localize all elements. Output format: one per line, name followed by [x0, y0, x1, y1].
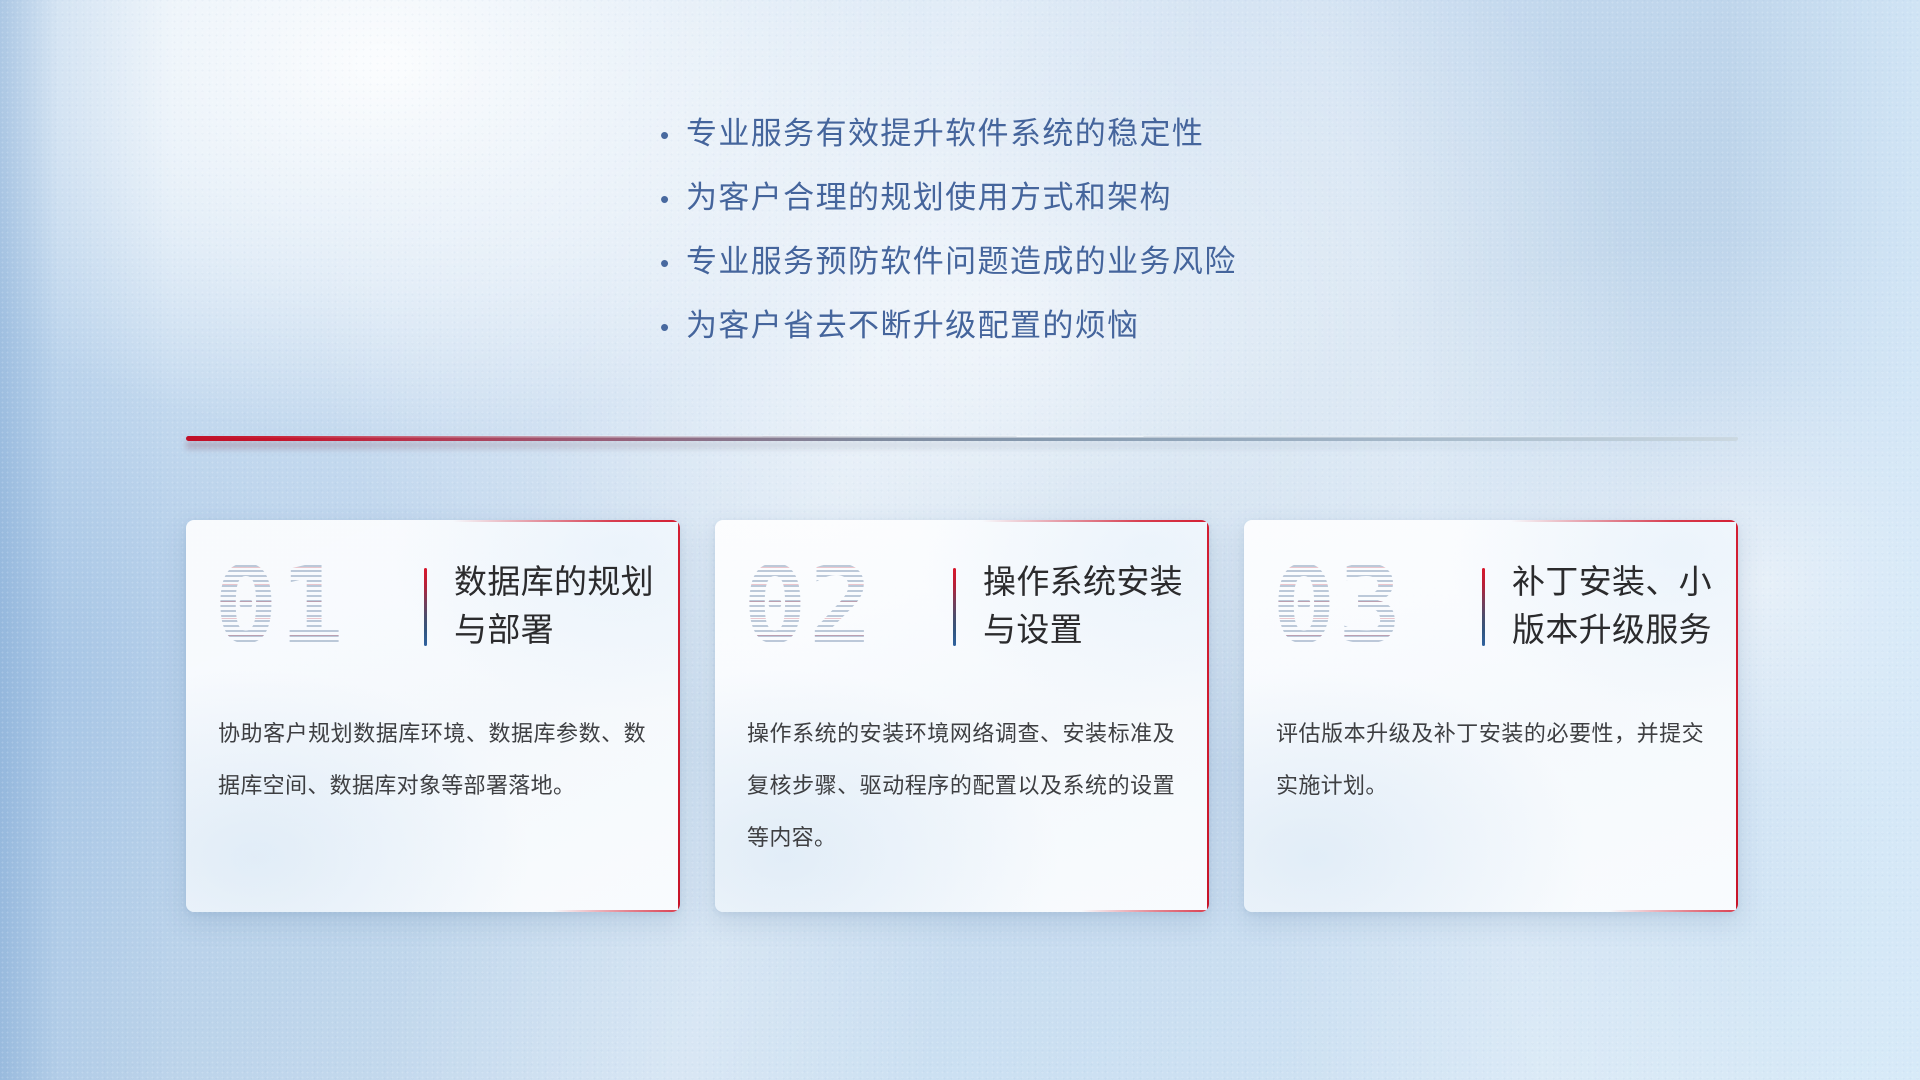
- bullet-item-label: 为客户合理的规划使用方式和架构: [686, 172, 1172, 217]
- card-bottom-accent: [1081, 910, 1209, 912]
- slide-canvas: • 专业服务有效提升软件系统的稳定性 • 为客户合理的规划使用方式和架构 • 专…: [0, 0, 1920, 1080]
- card-header: 02 02 操作系统安装与设置: [715, 520, 1209, 688]
- service-card-01[interactable]: 01 01 数据库的规划与部署 协助客户规划数据库环境、数据库参数、数据库空间、…: [186, 520, 680, 912]
- list-item: • 专业服务预防软件问题造成的业务风险: [660, 236, 1460, 300]
- bullet-dot-icon: •: [660, 186, 686, 212]
- bullet-dot-icon: •: [660, 250, 686, 276]
- list-item: • 为客户省去不断升级配置的烦恼: [660, 300, 1460, 364]
- card-title-rule: [1482, 568, 1485, 646]
- card-header: 01 01 数据库的规划与部署: [186, 520, 680, 688]
- card-number-red-flecks: 01: [214, 550, 394, 662]
- service-card-list: 01 01 数据库的规划与部署 协助客户规划数据库环境、数据库参数、数据库空间、…: [186, 520, 1738, 920]
- card-number-red-flecks: 02: [743, 550, 923, 662]
- card-header: 03 03 补丁安装、小版本升级服务: [1244, 520, 1738, 688]
- card-title: 补丁安装、小版本升级服务: [1512, 558, 1722, 654]
- bullet-item-label: 专业服务预防软件问题造成的业务风险: [686, 236, 1237, 281]
- bullet-item-label: 为客户省去不断升级配置的烦恼: [686, 300, 1140, 345]
- bullet-item-label: 专业服务有效提升软件系统的稳定性: [686, 108, 1204, 153]
- service-card-03[interactable]: 03 03 补丁安装、小版本升级服务 评估版本升级及补丁安装的必要性，并提交实施…: [1244, 520, 1738, 912]
- card-title: 操作系统安装与设置: [983, 558, 1193, 654]
- card-title-rule: [424, 568, 427, 646]
- card-bottom-accent: [552, 910, 680, 912]
- card-title: 数据库的规划与部署: [454, 558, 664, 654]
- bullet-dot-icon: •: [660, 314, 686, 340]
- card-description: 协助客户规划数据库环境、数据库参数、数据库空间、数据库对象等部署落地。: [218, 708, 646, 812]
- card-description: 操作系统的安装环境网络调查、安装标准及复核步骤、驱动程序的配置以及系统的设置等内…: [747, 708, 1175, 864]
- benefits-bullet-list: • 专业服务有效提升软件系统的稳定性 • 为客户合理的规划使用方式和架构 • 专…: [660, 108, 1460, 364]
- divider-shadow: [186, 441, 1738, 449]
- list-item: • 为客户合理的规划使用方式和架构: [660, 172, 1460, 236]
- service-card-02[interactable]: 02 02 操作系统安装与设置 操作系统的安装环境网络调查、安装标准及复核步骤、…: [715, 520, 1209, 912]
- list-item: • 专业服务有效提升软件系统的稳定性: [660, 108, 1460, 172]
- card-description: 评估版本升级及补丁安装的必要性，并提交实施计划。: [1276, 708, 1704, 812]
- card-bottom-accent: [1610, 910, 1738, 912]
- card-title-rule: [953, 568, 956, 646]
- bullet-dot-icon: •: [660, 122, 686, 148]
- card-number-red-flecks: 03: [1272, 550, 1452, 662]
- section-divider: [186, 432, 1738, 452]
- divider-highlight: [186, 435, 1738, 438]
